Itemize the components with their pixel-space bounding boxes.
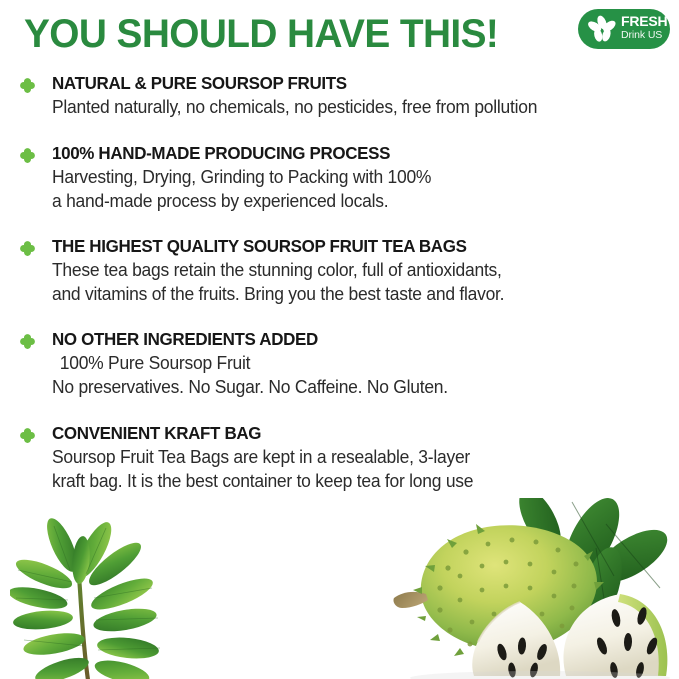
leaf-cluster-icon: [585, 13, 619, 45]
list-item-body: Planted naturally, no chemicals, no pest…: [52, 95, 679, 119]
brand-badge: FRESH Drink US: [578, 9, 670, 49]
soursop-leaf-branch-photo: [10, 512, 240, 679]
list-item-line: Soursop Fruit Tea Bags are kept in a res…: [52, 445, 660, 469]
list-item-line: 100% Pure Soursop Fruit: [52, 351, 660, 375]
list-item-line: a hand-made process by experienced local…: [52, 189, 660, 213]
list-item-heading: CONVENIENT KRAFT BAG: [52, 422, 660, 444]
page-title: YOU SHOULD HAVE THIS!: [24, 12, 498, 57]
list-item-line: Planted naturally, no chemicals, no pest…: [52, 95, 660, 119]
list-item: NATURAL & PURE SOURSOP FRUITS Planted na…: [0, 72, 679, 119]
list-item-heading: 100% HAND-MADE PRODUCING PROCESS: [52, 142, 660, 164]
list-item-body: These tea bags retain the stunning color…: [52, 258, 679, 306]
product-feature-card: YOU SHOULD HAVE THIS! FRESH Drink US: [0, 0, 679, 679]
list-item-heading: NATURAL & PURE SOURSOP FRUITS: [52, 72, 660, 94]
list-item-line: No preservatives. No Sugar. No Caffeine.…: [52, 375, 660, 399]
list-item-line: kraft bag. It is the best container to k…: [52, 469, 660, 493]
clover-bullet-icon: [19, 427, 36, 444]
list-item-line: and vitamins of the fruits. Bring you th…: [52, 282, 660, 306]
product-imagery: [0, 498, 679, 679]
list-item: NO OTHER INGREDIENTS ADDED 100% Pure Sou…: [0, 328, 679, 399]
list-item-body: Harvesting, Drying, Grinding to Packing …: [52, 165, 679, 213]
list-item-line: These tea bags retain the stunning color…: [52, 258, 660, 282]
clover-bullet-icon: [19, 147, 36, 164]
list-item-heading: NO OTHER INGREDIENTS ADDED: [52, 328, 660, 350]
feature-list: NATURAL & PURE SOURSOP FRUITS Planted na…: [0, 72, 679, 493]
header: YOU SHOULD HAVE THIS! FRESH Drink US: [0, 0, 679, 66]
list-item: CONVENIENT KRAFT BAG Soursop Fruit Tea B…: [0, 422, 679, 493]
brand-badge-text: FRESH Drink US: [621, 14, 667, 42]
clover-bullet-icon: [19, 333, 36, 350]
brand-subtitle: Drink US: [621, 29, 667, 42]
clover-bullet-icon: [19, 240, 36, 257]
list-item: 100% HAND-MADE PRODUCING PROCESS Harvest…: [0, 142, 679, 213]
list-item-body: 100% Pure Soursop Fruit No preservatives…: [52, 351, 679, 399]
list-item-body: Soursop Fruit Tea Bags are kept in a res…: [52, 445, 679, 493]
soursop-fruit-photo: [370, 498, 679, 679]
list-item-heading: THE HIGHEST QUALITY SOURSOP FRUIT TEA BA…: [52, 235, 660, 257]
list-item-line: Harvesting, Drying, Grinding to Packing …: [52, 165, 660, 189]
list-item: THE HIGHEST QUALITY SOURSOP FRUIT TEA BA…: [0, 235, 679, 306]
clover-bullet-icon: [19, 77, 36, 94]
brand-name: FRESH: [621, 14, 667, 29]
